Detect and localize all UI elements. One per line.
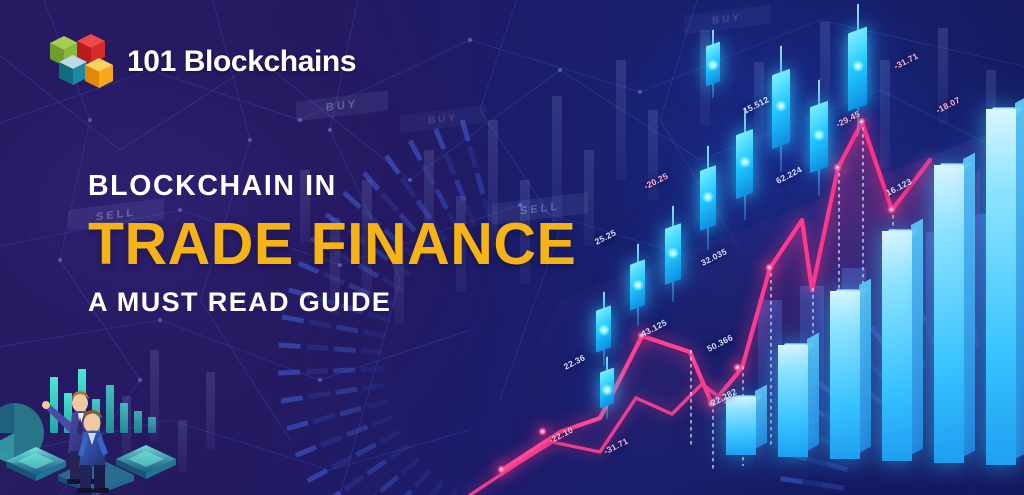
- headline-eyebrow: BLOCKCHAIN IN: [88, 172, 576, 201]
- headline-title: TRADE FINANCE: [88, 214, 576, 275]
- analysts-svg: [0, 355, 190, 495]
- dial-tick: [286, 420, 309, 431]
- four-cubes-logo-icon: [47, 29, 113, 95]
- data-label-7: 25.25: [593, 227, 618, 246]
- dial-tick: [389, 444, 410, 461]
- dial-tick: [894, 359, 911, 380]
- dial-tick: [320, 435, 342, 448]
- dial-tick: [785, 451, 808, 461]
- ghost-buy-plate-2: BUY: [400, 105, 486, 134]
- dial-tick: [812, 434, 834, 447]
- radial-dial-decoration-right: [800, 300, 1024, 495]
- ghost-buy-plate-1: BUY: [296, 90, 388, 121]
- data-label-14: -18.07: [934, 95, 962, 116]
- dial-tick: [428, 479, 445, 495]
- promo-banner: BUY BUY SELL SELL BUY: [0, 0, 1024, 495]
- data-label-2: 22.36: [562, 352, 587, 371]
- candle-7: [810, 104, 828, 170]
- dial-tick: [913, 300, 927, 322]
- dial-tick: [967, 305, 976, 328]
- bar-6: [986, 109, 1016, 465]
- dial-tick: [901, 329, 916, 351]
- dial-tick: [343, 475, 364, 492]
- dial-tick: [840, 422, 862, 437]
- dial-tick: [306, 468, 328, 483]
- dial-tick: [822, 482, 844, 490]
- bar-2: [778, 345, 808, 457]
- dial-tick: [400, 457, 420, 475]
- dial-tick: [408, 140, 423, 162]
- dial-tick: [793, 426, 815, 439]
- dial-tick: [864, 357, 883, 376]
- candle-6: [772, 72, 790, 146]
- candle-8: [848, 30, 867, 108]
- two-analysts-illustration: [0, 355, 190, 495]
- dial-tick: [878, 372, 897, 391]
- bar-5: [934, 165, 964, 463]
- dial-tick: [336, 325, 359, 334]
- data-label-10: 62.224: [774, 164, 803, 186]
- dial-tick: [801, 479, 823, 487]
- dial-tick: [335, 387, 358, 395]
- data-label-11: -29.45: [834, 109, 862, 130]
- dial-tick: [834, 392, 855, 408]
- dial-tick: [433, 128, 446, 150]
- bar-4: [882, 231, 912, 461]
- data-label-0: -22.10: [547, 425, 575, 446]
- dial-tick: [361, 348, 383, 355]
- candle-10: [706, 44, 720, 84]
- dial-tick: [443, 489, 458, 495]
- dial-tick: [937, 291, 948, 313]
- data-label-1: -31.71: [602, 436, 630, 457]
- dial-tick: [361, 366, 383, 372]
- dial-tick: [922, 319, 936, 341]
- data-label-4: 50.366: [705, 332, 734, 354]
- dial-tick: [890, 311, 905, 333]
- dial-tick: [864, 387, 884, 405]
- dial-tick: [363, 329, 386, 338]
- dial-tick: [962, 284, 971, 307]
- dial-tick: [816, 381, 837, 397]
- dial-tick: [309, 320, 332, 329]
- data-label-13: -31.71: [892, 51, 920, 72]
- dial-tick: [313, 413, 336, 424]
- data-label-6: 32.035: [699, 246, 728, 268]
- dial-tick: [822, 413, 844, 428]
- brand-name: 101 Blockchains: [127, 45, 356, 79]
- dial-tick: [930, 338, 944, 360]
- dial-tick: [295, 445, 317, 458]
- bar-3: [830, 291, 860, 459]
- dial-tick: [460, 119, 471, 142]
- dial-tick: [339, 406, 362, 417]
- dial-tick: [306, 344, 328, 351]
- dial-tick: [355, 442, 377, 457]
- headline-block: BLOCKCHAIN IN TRADE FINANCE A MUST READ …: [88, 172, 576, 316]
- dial-tick: [832, 441, 854, 454]
- dial-tick: [278, 370, 300, 376]
- dial-tick: [379, 475, 399, 493]
- dial-tick: [971, 326, 980, 349]
- dial-tick: [882, 342, 899, 363]
- dial-tick: [379, 429, 401, 444]
- data-label-9: 15.512: [741, 94, 770, 116]
- dial-tick: [278, 342, 300, 349]
- dial-tick: [869, 325, 886, 346]
- dial-tick: [306, 368, 328, 374]
- dial-tick: [780, 476, 802, 484]
- dial-tick: [334, 346, 356, 353]
- ghost-buy-plate-3: BUY: [684, 5, 770, 35]
- data-label-8: -20.25: [642, 171, 670, 192]
- dial-tick: [912, 347, 927, 369]
- data-label-12: 16.123: [884, 176, 913, 198]
- dial-tick: [331, 455, 353, 470]
- dial-tick: [832, 360, 852, 378]
- dial-tick: [805, 456, 828, 466]
- data-label-5: 22.282: [709, 386, 738, 408]
- dial-tick: [394, 489, 413, 495]
- dial-tick: [413, 469, 432, 489]
- dial-tick: [803, 403, 825, 418]
- brand-logo[interactable]: 101 Blockchains: [47, 29, 356, 95]
- dial-tick: [467, 146, 478, 169]
- dial-tick: [372, 414, 394, 427]
- bar-1: [726, 397, 756, 455]
- candle-3: [665, 226, 681, 282]
- dial-tick: [346, 425, 368, 438]
- dial-tick: [321, 490, 342, 495]
- candle-2: [630, 262, 645, 308]
- data-label-3: 43.125: [639, 317, 668, 339]
- dial-tick: [944, 311, 955, 333]
- headline-subtitle: A MUST READ GUIDE: [88, 289, 576, 316]
- dial-tick: [851, 404, 872, 420]
- candle-9: [600, 370, 614, 406]
- dial-tick: [366, 399, 389, 410]
- dial-tick: [826, 462, 849, 472]
- candle-1: [596, 308, 611, 350]
- candle-5: [736, 132, 753, 196]
- dial-tick: [333, 367, 355, 373]
- dial-tick: [366, 459, 387, 476]
- dial-tick: [362, 383, 385, 391]
- dial-tick: [308, 391, 331, 399]
- dial-tick: [848, 374, 868, 392]
- dial-tick: [281, 395, 304, 403]
- dial-tick: [849, 342, 868, 361]
- candle-4: [700, 168, 716, 228]
- dial-tick: [950, 331, 961, 353]
